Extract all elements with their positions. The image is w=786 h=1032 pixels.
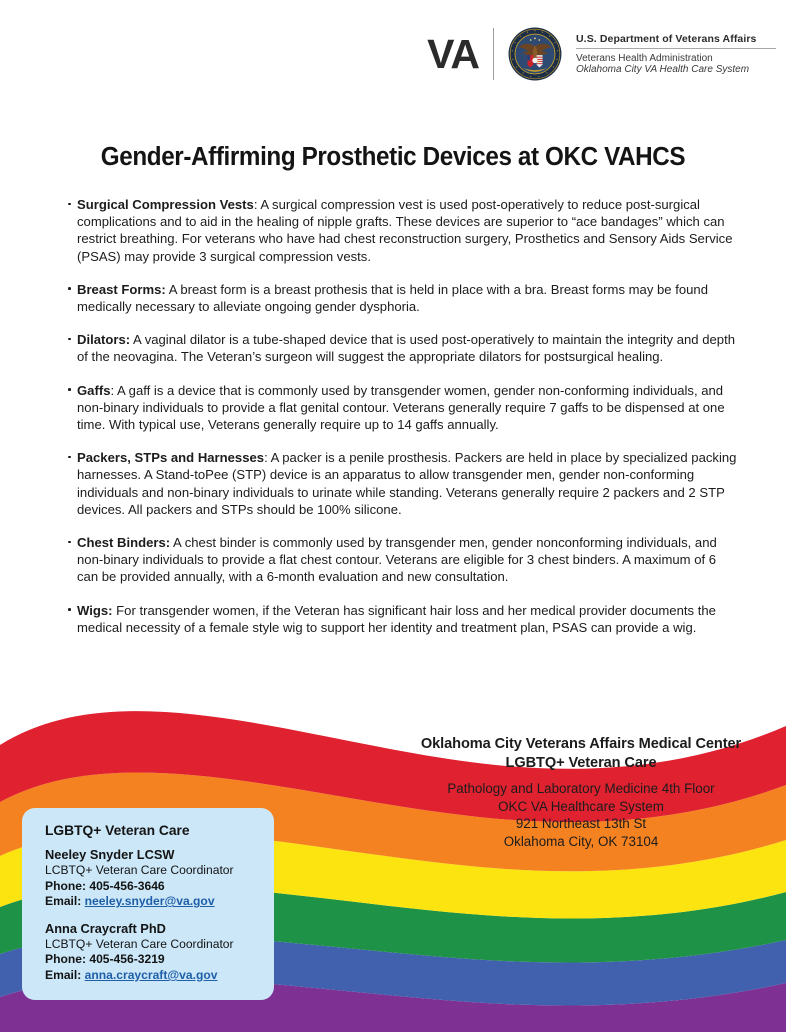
contact-person: Anna Craycraft PhD LCBTQ+ Veteran Care C… [38,921,258,984]
address-line-1: Pathology and Laboratory Medicine 4th Fl… [386,780,776,798]
list-item: Chest Binders: A chest binder is commonl… [68,534,740,586]
header-administration: Veterans Health Administration [576,49,776,64]
contact-phone: Phone: 405-456-3646 [45,879,258,895]
contact-name: Anna Craycraft PhD [45,921,258,937]
contact-name: Neeley Snyder LCSW [45,847,258,863]
list-item-text: A vaginal dilator is a tube-shaped devic… [77,332,735,364]
bullet-dot-icon [68,388,71,391]
list-item-text: A chest binder is commonly used by trans… [77,535,717,584]
list-item: Wigs: For transgender women, if the Vete… [68,602,740,636]
contact-card-title: LGBTQ+ Veteran Care [38,823,258,838]
contact-role: LCBTQ+ Veteran Care Coordinator [45,937,258,953]
contact-email-row: Email: neeley.snyder@va.gov [45,894,258,910]
bullet-dot-icon [68,203,71,206]
va-seal-icon [508,27,562,81]
header-divider [493,28,494,80]
header-agency-name: U.S. Department of Veterans Affairs [576,33,776,49]
list-item-term: Surgical Compression Vests [77,197,254,212]
bullet-dot-icon [68,338,71,341]
bullet-dot-icon [68,541,71,544]
email-label: Email: [45,968,81,982]
list-item: Packers, STPs and Harnesses: A packer is… [68,449,740,518]
list-item: Surgical Compression Vests: A surgical c… [68,196,740,265]
contact-person: Neeley Snyder LCSW LCBTQ+ Veteran Care C… [38,847,258,910]
list-item-text: For transgender women, if the Veteran ha… [77,603,716,635]
address-heading-line2: LGBTQ+ Veteran Care [386,754,776,773]
contact-phone: Phone: 405-456-3219 [45,952,258,968]
va-wordmark: VA [427,34,493,75]
contact-role: LCBTQ+ Veteran Care Coordinator [45,863,258,879]
address-block: Oklahoma City Veterans Affairs Medical C… [386,735,776,850]
list-item-term: Wigs: [77,603,113,618]
contact-email-link[interactable]: neeley.snyder@va.gov [85,894,215,908]
device-list: Surgical Compression Vests: A surgical c… [68,196,740,636]
poster-page: VA [0,0,786,1032]
list-item: Dilators: A vaginal dilator is a tube-sh… [68,331,740,365]
header-facility: Oklahoma City VA Health Care System [576,64,776,75]
list-item-term: Gaffs [77,383,110,398]
list-item-text: : A gaff is a device that is commonly us… [77,383,725,432]
list-item: Gaffs: A gaff is a device that is common… [68,382,740,434]
list-item-term: Dilators: [77,332,130,347]
address-lines: Pathology and Laboratory Medicine 4th Fl… [386,780,776,850]
contact-card: LGBTQ+ Veteran Care Neeley Snyder LCSW L… [22,808,274,1000]
address-line-4: Oklahoma City, OK 73104 [386,833,776,851]
contact-email-link[interactable]: anna.craycraft@va.gov [85,968,218,982]
address-line-2: OKC VA Healthcare System [386,798,776,816]
bullet-dot-icon [68,608,71,611]
list-item-text: A breast form is a breast prothesis that… [77,282,708,314]
contact-email-row: Email: anna.craycraft@va.gov [45,968,258,984]
list-item: Breast Forms: A breast form is a breast … [68,281,740,315]
bullet-dot-icon [68,287,71,290]
list-item-term: Packers, STPs and Harnesses [77,450,264,465]
list-item-term: Breast Forms: [77,282,166,297]
bullet-dot-icon [68,456,71,459]
header-text-block: U.S. Department of Veterans Affairs Vete… [576,33,776,75]
page-title: Gender-Affirming Prosthetic Devices at O… [20,143,767,172]
address-heading-line1: Oklahoma City Veterans Affairs Medical C… [386,735,776,754]
va-header: VA [0,18,786,90]
email-label: Email: [45,894,81,908]
address-line-3: 921 Northeast 13th St [386,815,776,833]
list-item-term: Chest Binders: [77,535,170,550]
